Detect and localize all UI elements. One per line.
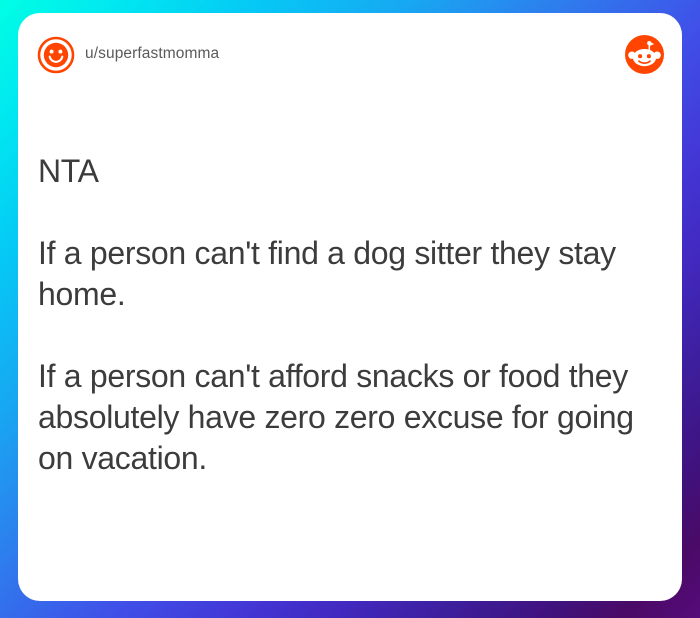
post-author-username[interactable]: u/superfastmomma bbox=[85, 45, 219, 63]
reddit-post-card: u/superfastmomma bbox=[18, 13, 682, 601]
screen-background: u/superfastmomma bbox=[0, 0, 700, 618]
post-paragraph: If a person can't afford snacks or food … bbox=[38, 356, 664, 479]
post-paragraph: If a person can't find a dog sitter they… bbox=[38, 233, 664, 315]
post-body-text: NTA If a person can't find a dog sitter … bbox=[38, 151, 664, 479]
post-header: u/superfastmomma bbox=[18, 13, 682, 91]
post-paragraph: NTA bbox=[38, 151, 664, 192]
reddit-snoo-icon[interactable] bbox=[625, 35, 664, 74]
smiley-face-icon[interactable] bbox=[37, 36, 75, 74]
